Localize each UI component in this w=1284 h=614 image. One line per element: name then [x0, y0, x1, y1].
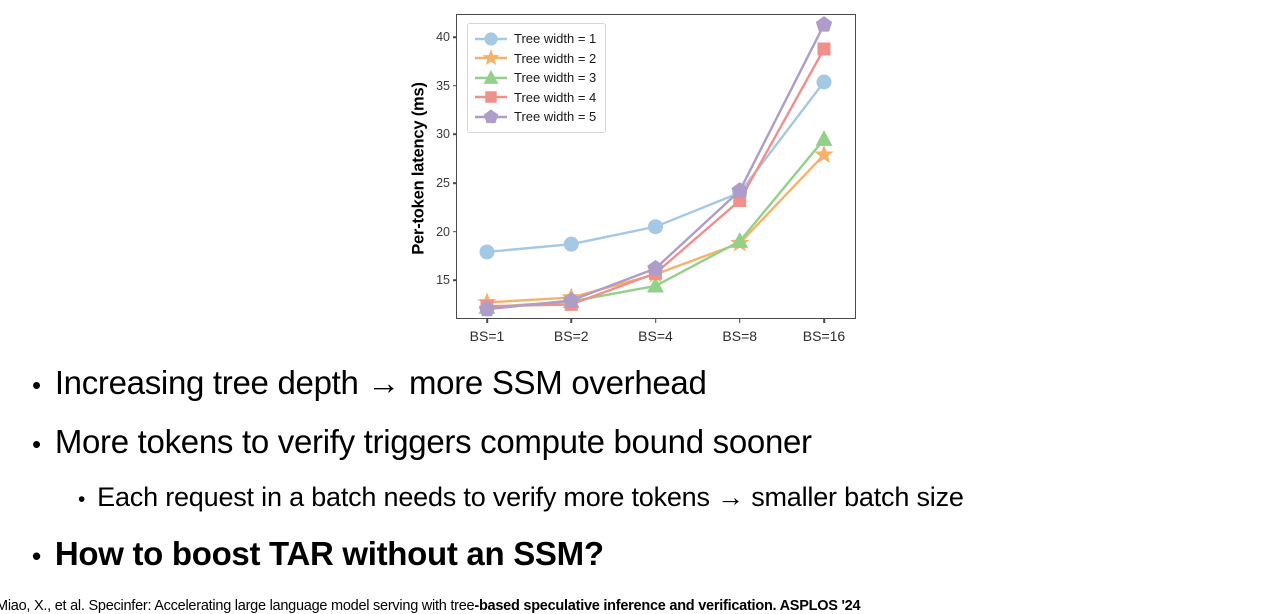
chart-x-tick-label: BS=1: [470, 328, 505, 344]
chart-x-tick-label: BS=4: [638, 328, 673, 344]
chart-data-point: [817, 75, 832, 90]
chart-y-tick-mark: [453, 134, 458, 136]
chart-x-tick-mark: [486, 318, 488, 323]
chart-x-tick-mark: [655, 318, 657, 323]
chart-y-tick-label: 30: [436, 127, 450, 141]
chart-x-tick-mark: [570, 318, 572, 323]
legend-item-label: Tree width = 4: [514, 90, 596, 105]
legend-marker-icon: [474, 30, 508, 48]
legend-item: Tree width = 5: [474, 107, 596, 127]
latency-chart-figure: Per-token latency (ms) 152025303540 BS=1…: [400, 4, 870, 349]
chart-x-tick-mark: [823, 318, 825, 323]
chart-y-tick-mark: [453, 182, 458, 184]
chart-x-tick-label: BS=2: [554, 328, 589, 344]
bullet-marker-icon: •: [32, 372, 41, 398]
chart-data-point: [648, 219, 663, 234]
chart-y-axis-label: Per-token latency (ms): [410, 54, 429, 284]
bullet-item: •Each request in a batch needs to verify…: [78, 484, 1284, 511]
bullet-item: •Increasing tree depth → more SSM overhe…: [32, 366, 1284, 399]
chart-y-tick-mark: [453, 279, 458, 281]
legend-marker-icon: [474, 108, 508, 126]
chart-x-tick-mark: [739, 318, 741, 323]
chart-legend: Tree width = 1Tree width = 2Tree width =…: [467, 23, 606, 133]
legend-marker-icon: [474, 49, 508, 67]
slide-bullet-list: •Increasing tree depth → more SSM overhe…: [0, 366, 1284, 596]
chart-y-tick-label: 35: [436, 79, 450, 93]
chart-data-point: [564, 237, 579, 252]
legend-item: Tree width = 3: [474, 68, 596, 88]
chart-y-tick-label: 40: [436, 30, 450, 44]
chart-y-tick-label: 15: [436, 273, 450, 287]
chart-data-point: [816, 16, 832, 32]
chart-y-tick-label: 25: [436, 176, 450, 190]
bullet-item: •How to boost TAR without an SSM?: [32, 537, 1284, 570]
legend-item: Tree width = 2: [474, 49, 596, 69]
chart-x-tick-label: BS=16: [803, 328, 845, 344]
bullet-text: More tokens to verify triggers compute b…: [55, 425, 812, 458]
chart-data-point: [816, 130, 833, 146]
bullet-item: •More tokens to verify triggers compute …: [32, 425, 1284, 458]
legend-marker-icon: [474, 69, 508, 87]
chart-y-tick-mark: [453, 85, 458, 87]
chart-y-tick-mark: [453, 37, 458, 39]
chart-y-tick-label: 20: [436, 225, 450, 239]
chart-plot-area: 152025303540 BS=1BS=2BS=4BS=8BS=16 Tree …: [456, 14, 856, 319]
legend-item: Tree width = 4: [474, 88, 596, 108]
chart-data-point: [818, 42, 831, 55]
bullet-marker-icon: •: [78, 489, 85, 510]
bullet-text: How to boost TAR without an SSM?: [55, 537, 604, 570]
bullet-text: Increasing tree depth → more SSM overhea…: [55, 366, 707, 399]
legend-item: Tree width = 1: [474, 29, 596, 49]
chart-data-point: [480, 244, 495, 259]
bullet-marker-icon: •: [32, 431, 41, 457]
legend-item-label: Tree width = 1: [514, 31, 596, 46]
chart-x-tick-label: BS=8: [722, 328, 757, 344]
legend-marker-icon: [474, 88, 508, 106]
legend-item-label: Tree width = 2: [514, 51, 596, 66]
bullet-marker-icon: •: [32, 543, 41, 569]
legend-item-label: Tree width = 5: [514, 109, 596, 124]
bullet-text: Each request in a batch needs to verify …: [97, 484, 964, 511]
legend-item-label: Tree width = 3: [514, 70, 596, 85]
chart-y-tick-mark: [453, 231, 458, 233]
chart-data-point: [563, 292, 579, 308]
